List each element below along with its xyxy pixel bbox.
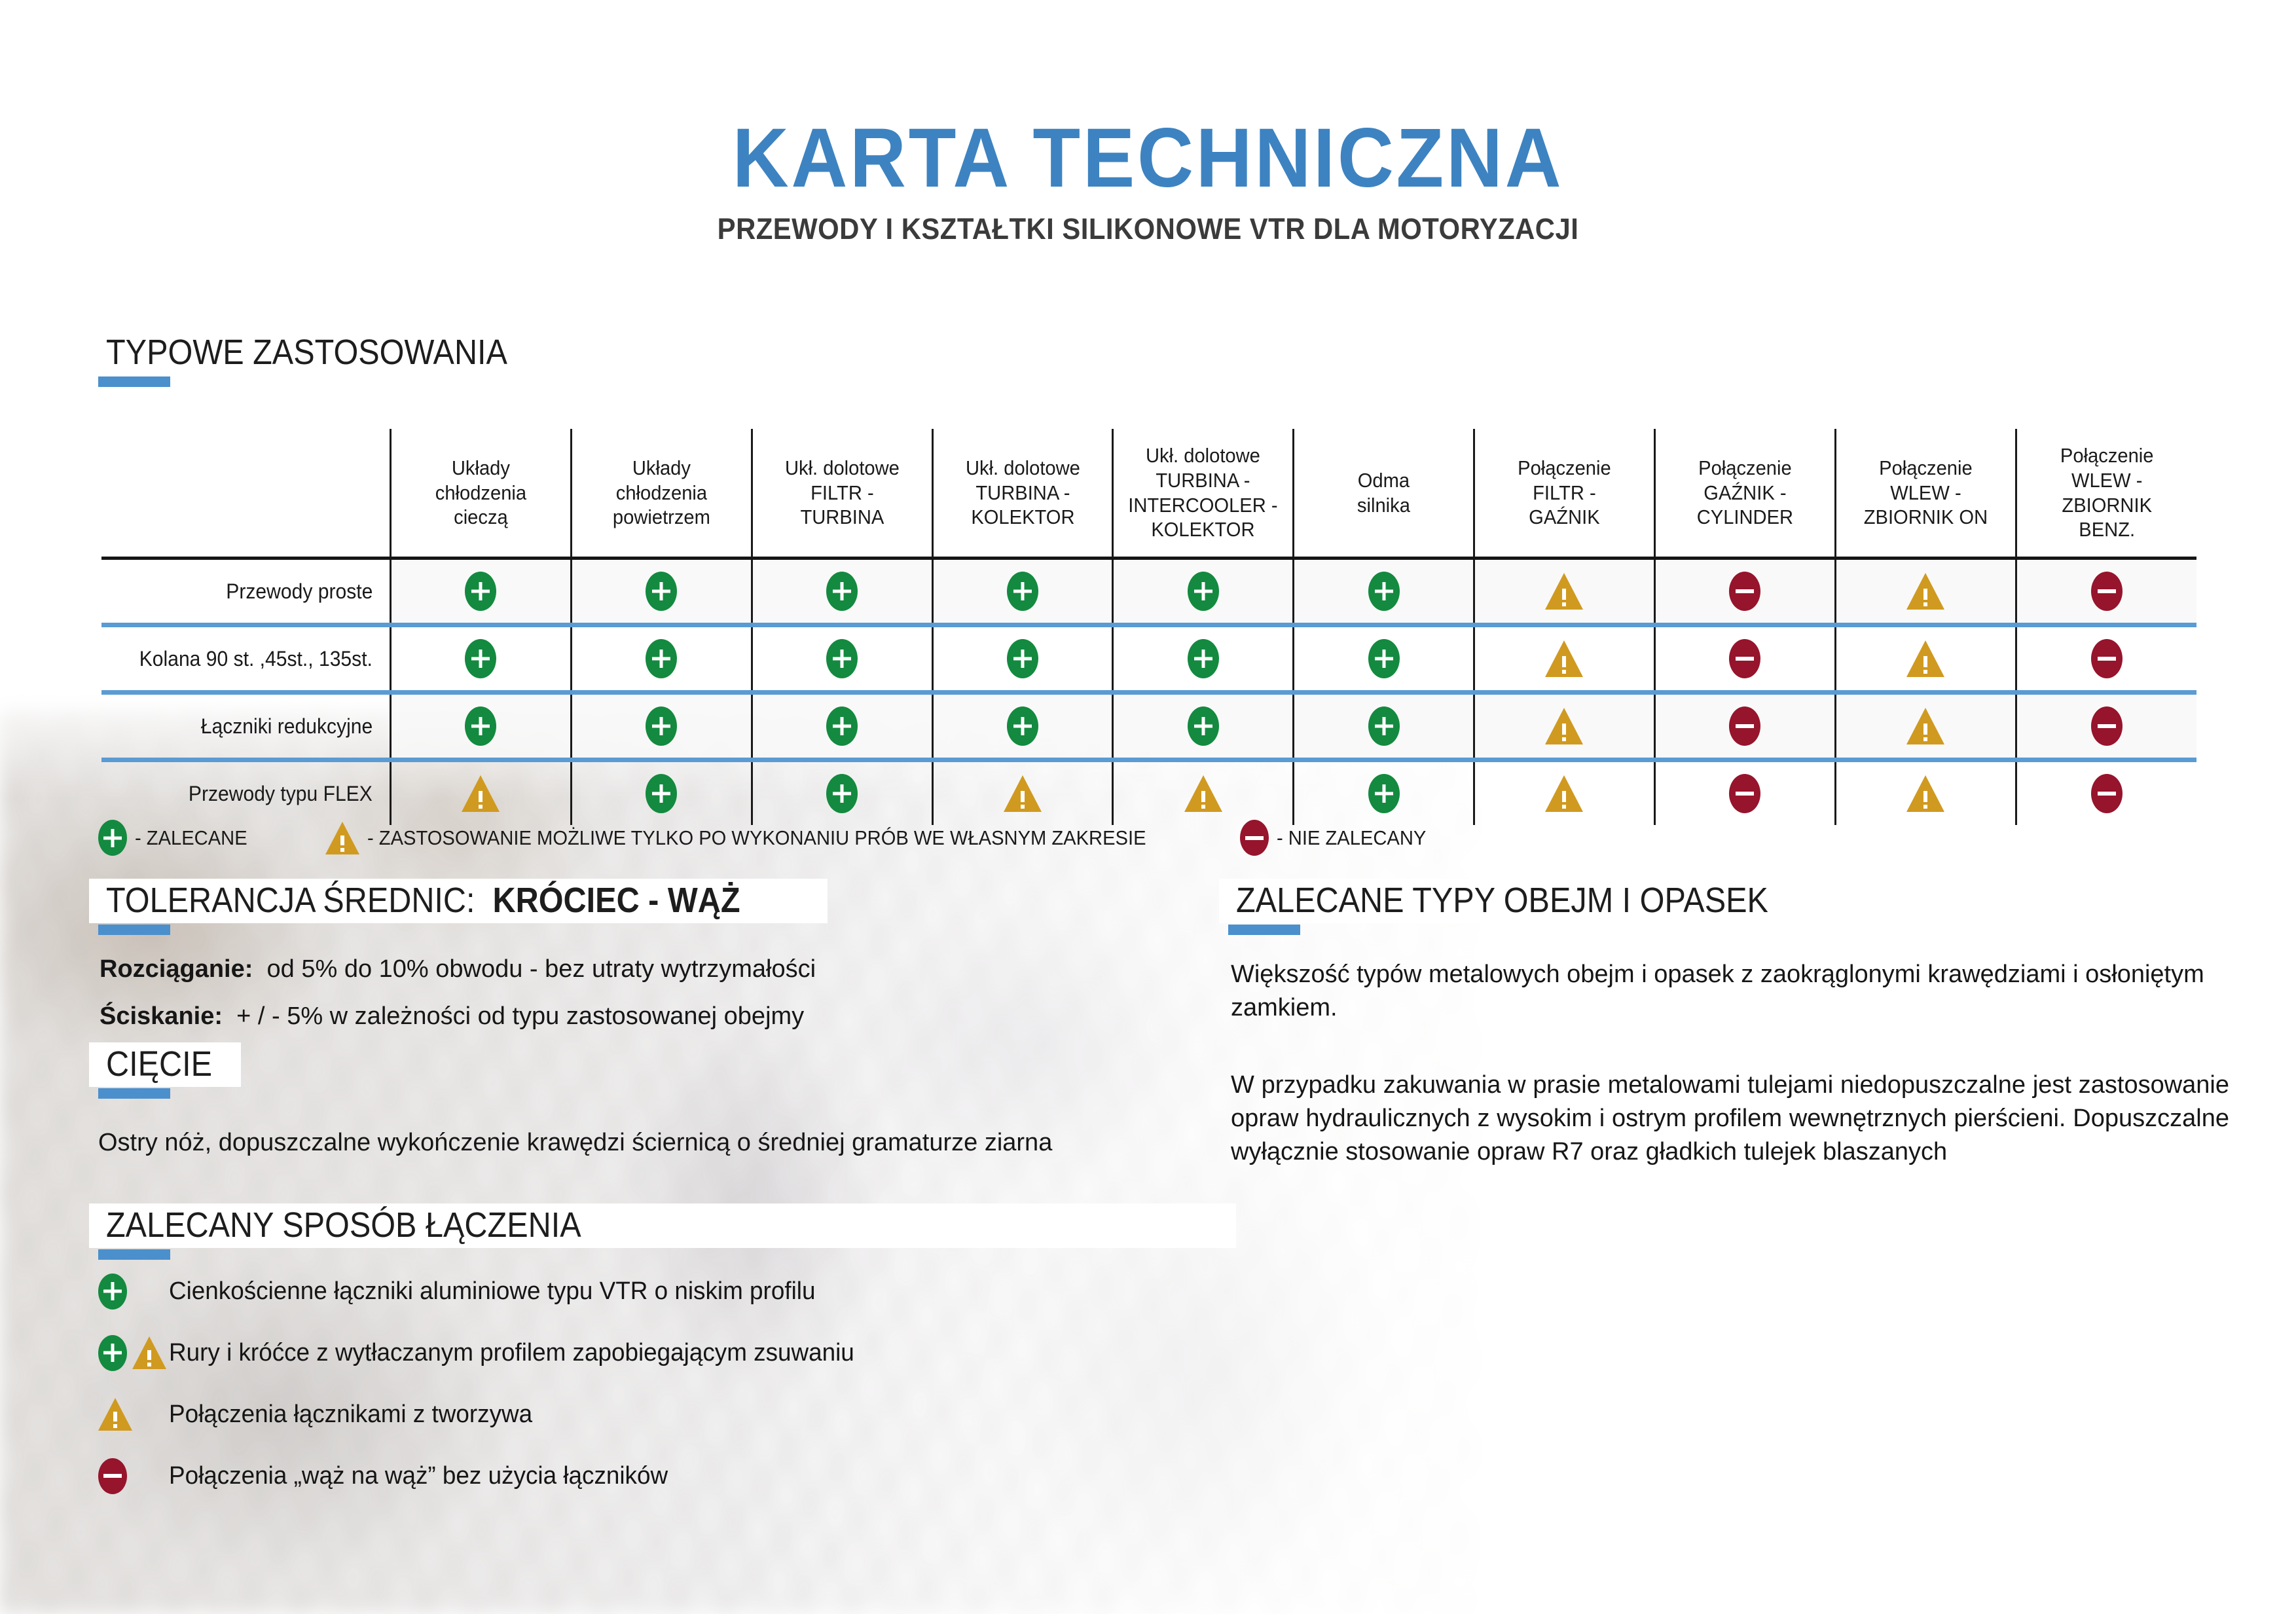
section-heading-joining: ZALECANY SPOSÓB ŁĄCZENIA [89, 1203, 1236, 1260]
col-line: Układy [577, 456, 745, 481]
tolerance-key-rozciaganie: Rozciąganie: [100, 955, 253, 983]
heading-rule [98, 1088, 170, 1099]
minus-icon [98, 1458, 127, 1494]
col-line: Ukł. dolotowe [939, 456, 1106, 481]
cell-status [932, 695, 1113, 758]
plus-icon [1188, 706, 1219, 746]
tolerance-key-sciskanie: Ściskanie: [100, 1002, 223, 1030]
plus-icon [826, 572, 858, 611]
col-line: ZBIORNIK ON [1842, 505, 2009, 530]
col-line: KOLEKTOR [1120, 517, 1287, 542]
cell-status [2016, 627, 2196, 690]
col-line: Połączenie [2022, 443, 2191, 468]
tolerance-row-sciskanie: Ściskanie: + / - 5% w zależności od typu… [100, 1000, 1121, 1033]
clamps-paragraph-2: W przypadku zakuwania w prasie metalowam… [1231, 1069, 2229, 1169]
plus-icon [1368, 774, 1400, 813]
tolerance-value-rozciaganie: od 5% do 10% obwodu - bez utraty wytrzym… [267, 955, 816, 983]
cell-status [1113, 627, 1294, 690]
bullet-icon-group [98, 1335, 169, 1371]
col-line: TURBINA - [1120, 468, 1287, 493]
col-line: chłodzenia [397, 481, 564, 505]
warning-icon [1906, 640, 1944, 677]
col-line: chłodzenia [577, 481, 745, 505]
cell-status [932, 627, 1113, 690]
col-line: FILTR - [758, 481, 926, 505]
list-item: Połączenia „wąż na wąż” bez użycia łączn… [98, 1452, 1080, 1500]
row-label: Łączniki redukcyjne [101, 695, 391, 758]
col-line: TURBINA [758, 505, 926, 530]
row-separator [101, 623, 2196, 627]
warning-icon [132, 1336, 166, 1369]
bullet-text: Połączenia łącznikami z tworzywa [169, 1401, 532, 1429]
column-header-odma-silnika: Odma silnika [1294, 429, 1474, 559]
cell-status [1474, 627, 1655, 690]
clamps-heading-text: ZALECANE TYPY OBEJM I OPASEK [1236, 881, 1768, 919]
tolerance-value-sciskanie: + / - 5% w zależności od typu zastosowan… [236, 1002, 804, 1030]
warning-icon [1184, 775, 1222, 812]
section-heading-applications: TYPOWE ZASTOSOWANIA [89, 331, 569, 387]
col-line: WLEW - [1842, 481, 2009, 505]
legend-item-recommended: - ZALECANE [98, 820, 255, 856]
bullet-text: Rury i króćce z wytłaczanym profilem zap… [169, 1339, 854, 1367]
plus-icon [465, 639, 496, 678]
cell-status [1835, 695, 2016, 758]
plus-icon [1368, 572, 1400, 611]
cell-status [391, 627, 572, 690]
cell-status [1294, 762, 1474, 825]
minus-icon [2091, 639, 2123, 678]
table-row: Przewody typu FLEX [101, 762, 2196, 825]
plus-icon [646, 774, 677, 813]
col-line: Ukł. dolotowe [1120, 443, 1287, 468]
cell-status [1835, 762, 2016, 825]
col-line: Odma [1300, 468, 1467, 493]
cell-status [1113, 559, 1294, 623]
warning-icon [98, 1398, 132, 1431]
warning-icon [1545, 708, 1583, 744]
warning-icon [1545, 640, 1583, 677]
row-separator [101, 690, 2196, 695]
cell-status [1294, 695, 1474, 758]
warning-icon [1906, 775, 1944, 812]
table-row: Kolana 90 st. ,45st., 135st. [101, 627, 2196, 690]
warning-icon [1906, 708, 1944, 744]
plus-icon [98, 1274, 127, 1310]
table-header-row: Układy chłodzenia cieczą Układy chłodzen… [101, 429, 2196, 559]
column-header-filtr-turbina: Ukł. dolotowe FILTR - TURBINA [752, 429, 932, 559]
cell-status [1835, 559, 2016, 623]
heading-rule [98, 376, 170, 387]
col-line: INTERCOOLER - [1120, 493, 1287, 518]
cell-status [752, 559, 932, 623]
heading-rule [98, 1249, 170, 1260]
plus-icon [826, 706, 858, 746]
legend-label: - NIE ZALECANY [1277, 826, 1426, 850]
cell-status [391, 559, 572, 623]
cell-status [752, 695, 932, 758]
bullet-text: Połączenia „wąż na wąż” bez użycia łączn… [169, 1462, 668, 1490]
plus-icon [1368, 706, 1400, 746]
plus-icon [646, 706, 677, 746]
tolerance-heading-normal: TOLERANCJA ŚREDNIC: [106, 881, 475, 920]
col-line: Połączenie [1480, 456, 1648, 481]
minus-icon [1729, 774, 1760, 813]
bullet-icon-group [98, 1274, 169, 1310]
joining-heading-text: ZALECANY SPOSÓB ŁĄCZENIA [106, 1206, 581, 1244]
minus-icon [1240, 820, 1269, 856]
clamps-paragraph-1: Większość typów metalowych obejm i opase… [1231, 958, 2232, 1025]
cell-status [391, 695, 572, 758]
joining-bullet-list: Cienkościenne łączniki aluminiowe typu V… [98, 1267, 1080, 1500]
column-header-turbina-kolektor: Ukł. dolotowe TURBINA - KOLEKTOR [932, 429, 1113, 559]
col-line: silnika [1300, 493, 1467, 518]
row-separator [101, 758, 2196, 762]
column-header-uklady-chlodzenia-powietrzem: Układy chłodzenia powietrzem [571, 429, 752, 559]
column-header-uklady-chlodzenia-ciecza: Układy chłodzenia cieczą [391, 429, 572, 559]
heading-rule [98, 925, 170, 935]
cell-status [2016, 559, 2196, 623]
cell-status [1654, 762, 1835, 825]
bullet-icon-group [98, 1458, 169, 1494]
col-line: TURBINA - [939, 481, 1106, 505]
section-heading-tolerance: TOLERANCJA ŚREDNIC: KRÓCIEC - WĄŻ [89, 879, 828, 935]
col-line: Ukł. dolotowe [758, 456, 926, 481]
legend-item-conditional: - ZASTOSOWANIE MOŻLIWE TYLKO PO WYKONANI… [325, 822, 1195, 854]
col-line: KOLEKTOR [939, 505, 1106, 530]
list-item: Połączenia łącznikami z tworzywa [98, 1390, 1080, 1439]
plus-icon [646, 639, 677, 678]
cell-status [932, 559, 1113, 623]
cell-status [571, 695, 752, 758]
cell-status [752, 627, 932, 690]
row-label: Przewody typu FLEX [101, 762, 391, 825]
warning-icon [1004, 775, 1042, 812]
col-line: Układy [397, 456, 564, 481]
table-row: Przewody proste [101, 559, 2196, 623]
legend-label: - ZALECANE [135, 826, 247, 850]
document-subtitle: PRZEWODY I KSZTAŁTKI SILIKONOWE VTR DLA … [81, 214, 2216, 244]
plus-icon [1007, 706, 1038, 746]
col-line: FILTR - [1480, 481, 1648, 505]
plus-icon [1007, 639, 1038, 678]
warning-icon [1906, 573, 1944, 610]
cell-status [1294, 627, 1474, 690]
cell-status [932, 762, 1113, 825]
row-label: Kolana 90 st. ,45st., 135st. [101, 627, 391, 690]
plus-icon [1188, 639, 1219, 678]
document-title: KARTA TECHNICZNA [81, 117, 2216, 200]
legend-item-not-recommended: - NIE ZALECANY [1240, 820, 1436, 856]
col-line: Połączenie [1842, 456, 2009, 481]
minus-icon [2091, 774, 2123, 813]
list-item: Rury i króćce z wytłaczanym profilem zap… [98, 1329, 1080, 1377]
cell-status [1474, 559, 1655, 623]
col-line: GAŹNIK [1480, 505, 1648, 530]
warning-icon [1545, 573, 1583, 610]
cell-status [1474, 695, 1655, 758]
cell-status [1654, 627, 1835, 690]
plus-icon [1007, 572, 1038, 611]
column-header-wlew-zbiornik-benz: Połączenie WLEW - ZBIORNIK BENZ. [2016, 429, 2196, 559]
applications-table-wrapper: Układy chłodzenia cieczą Układy chłodzen… [101, 429, 2196, 825]
cutting-text-wrapper: Ostry nóż, dopuszczalne wykończenie kraw… [98, 1126, 1126, 1160]
column-header-wlew-zbiornik-on: Połączenie WLEW - ZBIORNIK ON [1835, 429, 2016, 559]
legend-label: - ZASTOSOWANIE MOŻLIWE TYLKO PO WYKONANI… [367, 826, 1146, 850]
minus-icon [2091, 572, 2123, 611]
column-header-gaznik-cylinder: Połączenie GAŹNIK - CYLINDER [1654, 429, 1835, 559]
cell-status [1113, 762, 1294, 825]
warning-icon [325, 822, 359, 854]
clamps-paragraph-2-wrapper: W przypadku zakuwania w prasie metalowam… [1231, 1069, 2229, 1169]
col-line: Połączenie [1661, 456, 1829, 481]
plus-icon [98, 820, 127, 856]
warning-icon [462, 775, 500, 812]
clamps-paragraph-1-wrapper: Większość typów metalowych obejm i opase… [1231, 958, 2232, 1025]
list-item: Cienkościenne łączniki aluminiowe typu V… [98, 1267, 1080, 1315]
section-heading-cutting: CIĘCIE [89, 1042, 241, 1099]
plus-icon [465, 706, 496, 746]
cell-status [571, 762, 752, 825]
cutting-text: Ostry nóż, dopuszczalne wykończenie kraw… [98, 1126, 1126, 1160]
cell-status [2016, 695, 2196, 758]
cell-status [2016, 762, 2196, 825]
col-line: WLEW - [2022, 468, 2191, 493]
minus-icon [1729, 706, 1760, 746]
column-header-turbina-intercooler-kolektor: Ukł. dolotowe TURBINA - INTERCOOLER - KO… [1113, 429, 1294, 559]
applications-table: Układy chłodzenia cieczą Układy chłodzen… [101, 429, 2196, 825]
cell-status [1654, 559, 1835, 623]
column-header-filtr-gaznik: Połączenie FILTR - GAŹNIK [1474, 429, 1655, 559]
col-line: powietrzem [577, 505, 745, 530]
plus-icon [646, 572, 677, 611]
plus-icon [826, 774, 858, 813]
warning-icon [1545, 775, 1583, 812]
minus-icon [1729, 572, 1760, 611]
section-heading-clamps: ZALECANE TYPY OBEJM I OPASEK [1219, 879, 2233, 935]
plus-icon [1368, 639, 1400, 678]
tolerance-heading-bold: KRÓCIEC - WĄŻ [493, 881, 740, 920]
col-line: BENZ. [2022, 517, 2191, 542]
col-line: ZBIORNIK [2022, 493, 2191, 518]
bullet-text: Cienkościenne łączniki aluminiowe typu V… [169, 1277, 815, 1306]
cell-status [571, 559, 752, 623]
cell-status [1113, 695, 1294, 758]
bullet-icon-group [98, 1398, 169, 1431]
cell-status [1654, 695, 1835, 758]
col-line: cieczą [397, 505, 564, 530]
cutting-heading-text: CIĘCIE [106, 1045, 212, 1083]
col-line: CYLINDER [1661, 505, 1829, 530]
col-line: GAŹNIK - [1661, 481, 1829, 505]
row-label: Przewody proste [101, 559, 391, 623]
table-row: Łączniki redukcyjne [101, 695, 2196, 758]
cell-status [571, 627, 752, 690]
cell-status [391, 762, 572, 825]
plus-icon [98, 1335, 127, 1371]
plus-icon [1188, 572, 1219, 611]
plus-icon [465, 572, 496, 611]
cell-status [1835, 627, 2016, 690]
minus-icon [2091, 706, 2123, 746]
cell-status [752, 762, 932, 825]
cell-status [1294, 559, 1474, 623]
legend: - ZALECANE - ZASTOSOWANIE MOŻLIWE TYLKO … [98, 820, 1436, 856]
minus-icon [1729, 639, 1760, 678]
applications-heading-text: TYPOWE ZASTOSOWANIA [106, 333, 507, 371]
cell-status [1474, 762, 1655, 825]
table-corner-cell [101, 429, 391, 559]
tolerance-row-stretch: Rozciąganie: od 5% do 10% obwodu - bez u… [100, 953, 1121, 986]
plus-icon [826, 639, 858, 678]
heading-rule [1228, 925, 1300, 935]
